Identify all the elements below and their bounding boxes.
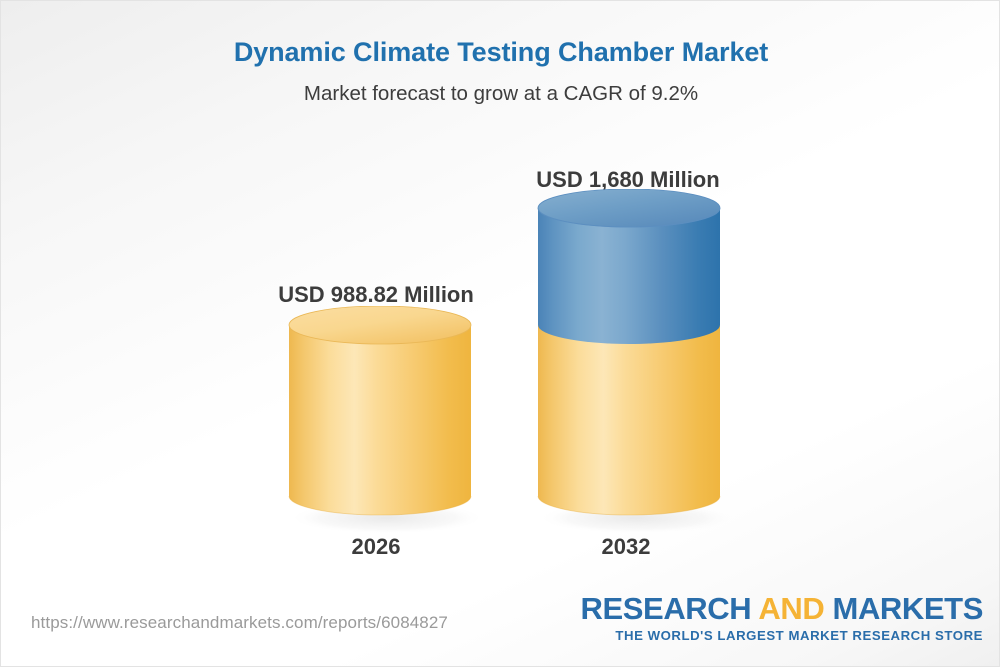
category-label-2032: 2032 <box>506 534 746 560</box>
brand-name-and: AND <box>758 591 824 626</box>
chart-plot-area: USD 988.82 Million USD 1,680 Million <box>1 1 1000 601</box>
bar-2026[interactable] <box>277 306 487 536</box>
brand-name-research: RESEARCH <box>581 591 759 626</box>
category-label-2026: 2026 <box>256 534 496 560</box>
value-label-2026: USD 988.82 Million <box>206 282 546 308</box>
brand-tagline: THE WORLD'S LARGEST MARKET RESEARCH STOR… <box>581 629 984 642</box>
brand-name-markets: MARKETS <box>824 591 983 626</box>
bar-2026-top-cap <box>289 306 471 344</box>
bar-2032-base-segment <box>538 325 720 515</box>
bar-2026-body <box>289 325 471 515</box>
bar-2032[interactable] <box>526 189 736 536</box>
source-url[interactable]: https://www.researchandmarkets.com/repor… <box>31 613 448 633</box>
market-infographic: Dynamic Climate Testing Chamber Market M… <box>0 0 1000 667</box>
brand-logo[interactable]: RESEARCH AND MARKETS THE WORLD'S LARGEST… <box>581 593 984 642</box>
brand-name: RESEARCH AND MARKETS <box>581 593 984 624</box>
bar-2032-growth-segment <box>538 208 720 344</box>
